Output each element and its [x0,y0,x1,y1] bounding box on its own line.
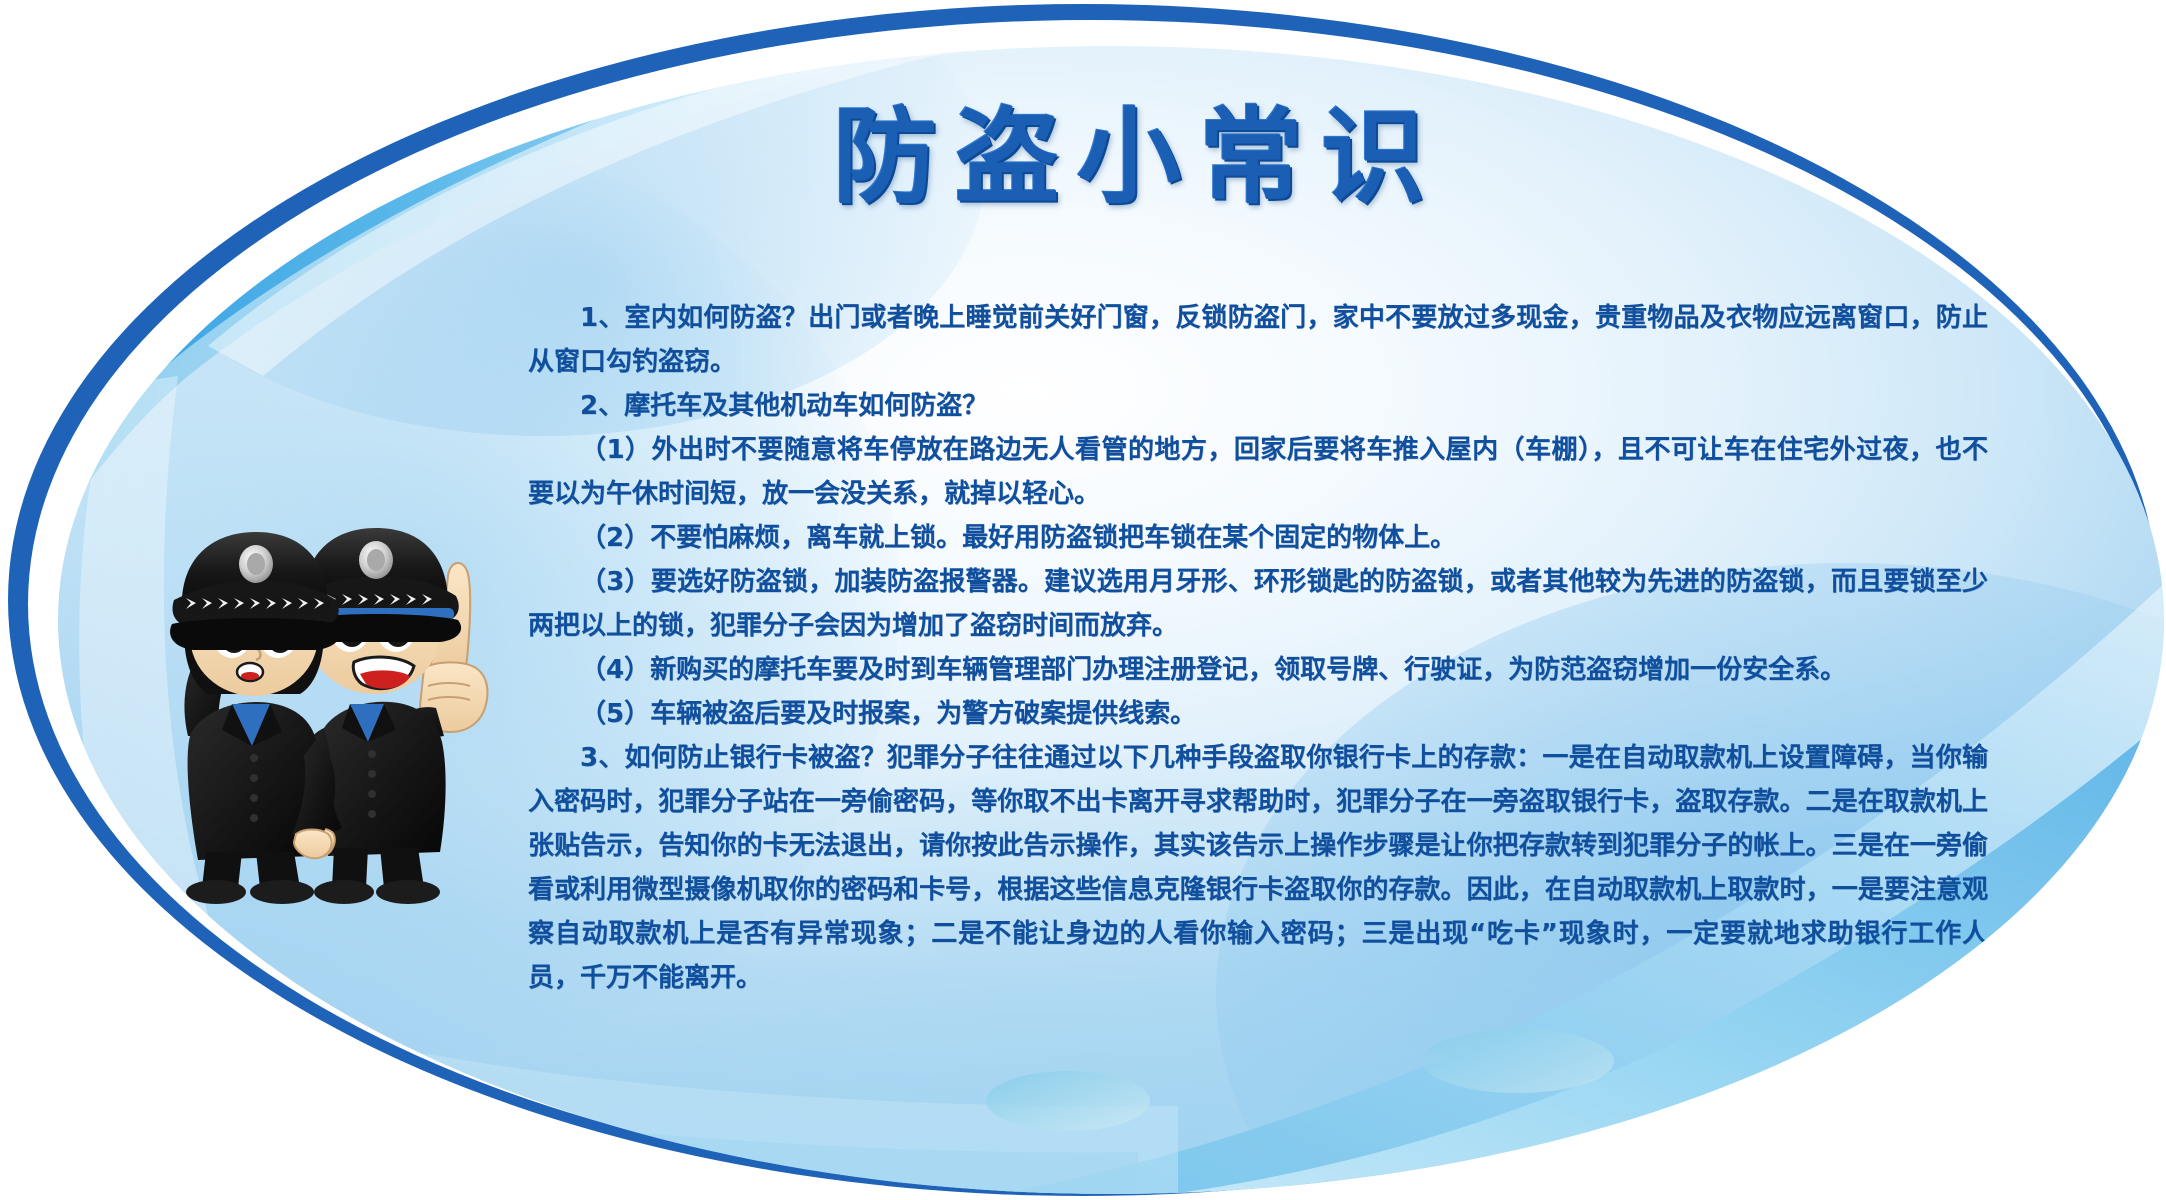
poster-canvas: 防盗小常识 1、室内如何防盗？出门或者晚上睡觉前关好门窗，反锁防盗门，家中不要放… [0,0,2166,1200]
female-police-cap [170,532,341,650]
poster-inner-surface: 防盗小常识 1、室内如何防盗？出门或者晚上睡觉前关好门窗，反锁防盗门，家中不要放… [58,46,2164,1194]
paragraph-section-2-heading: 2、摩托车及其他机动车如何防盗？ [528,384,1988,428]
paragraph-section-2-item-2: （2）不要怕麻烦，离车就上锁。最好用防盗锁把车锁在某个固定的物体上。 [528,516,1988,560]
female-officer-saluting [170,532,341,904]
poster-white-ring: 防盗小常识 1、室内如何防盗？出门或者晚上睡觉前关好门窗，反锁防盗门，家中不要放… [28,20,2154,1188]
poster-body-text: 1、室内如何防盗？出门或者晚上睡觉前关好门窗，反锁防盗门，家中不要放过多现金，贵… [528,296,1988,1000]
page-title: 防盗小常识 [748,98,1528,218]
paragraph-section-2-item-3: （3）要选好防盗锁，加装防盗报警器。建议选用月牙形、环形锁匙的防盗锁，或者其他较… [528,560,1988,648]
paragraph-section-3: 3、如何防止银行卡被盗？犯罪分子往往通过以下几种手段盗取你银行卡上的存款：一是在… [528,736,1988,1000]
paragraph-section-2-item-1: （1）外出时不要随意将车停放在路边无人看管的地方，回家后要将车推入屋内（车棚），… [528,428,1988,516]
paragraph-section-1: 1、室内如何防盗？出门或者晚上睡觉前关好门窗，反锁防盗门，家中不要放过多现金，贵… [528,296,1988,384]
poster-outer-border: 防盗小常识 1、室内如何防盗？出门或者晚上睡觉前关好门窗，反锁防盗门，家中不要放… [8,4,2158,1196]
paragraph-section-2-item-5: （5）车辆被盗后要及时报案，为警方破案提供线索。 [528,692,1988,736]
police-officers-illustration [128,436,548,906]
paragraph-section-2-item-4: （4）新购买的摩托车要及时到车辆管理部门办理注册登记，领取号牌、行驶证，为防范盗… [528,648,1988,692]
police-officers-svg [128,436,548,906]
